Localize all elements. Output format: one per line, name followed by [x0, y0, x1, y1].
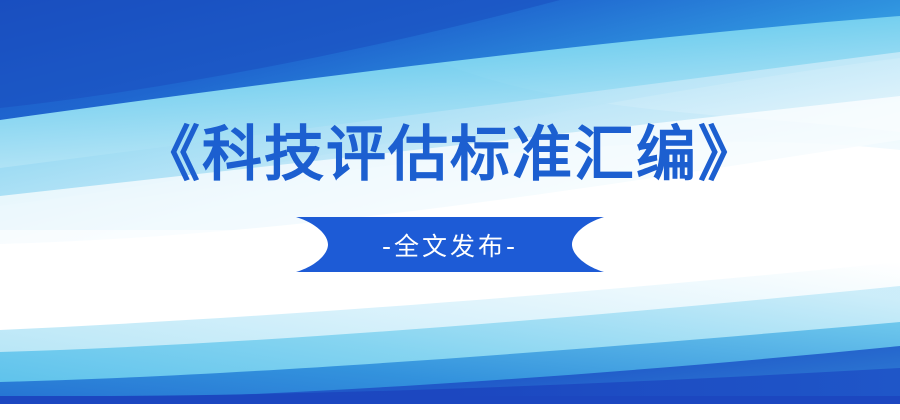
ribbon-badge: -全文发布- — [296, 217, 604, 272]
promo-banner: 《科技评估标准汇编》 -全文发布- — [0, 0, 900, 420]
banner-content: 《科技评估标准汇编》 -全文发布- — [0, 0, 900, 420]
page-title: 《科技评估标准汇编》 — [140, 124, 760, 187]
ribbon-label: -全文发布- — [296, 217, 604, 272]
